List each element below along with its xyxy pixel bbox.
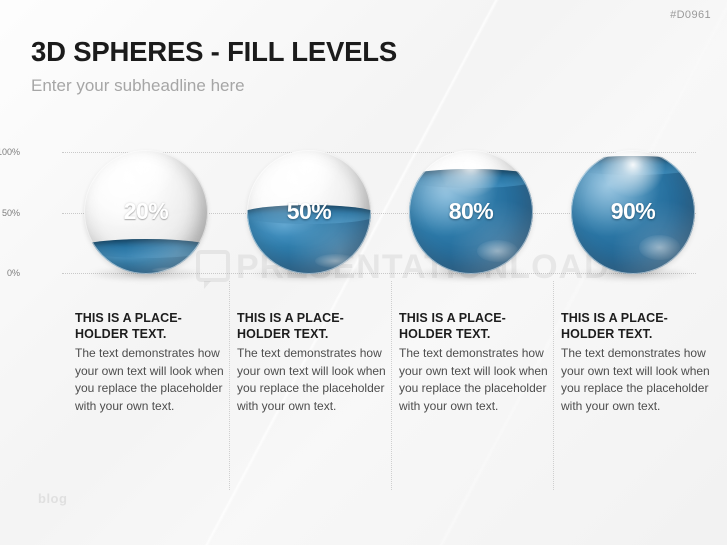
caption-heading-2[interactable]: THIS IS A PLACE-HOLDER TEXT. [237, 310, 387, 342]
sphere-3[interactable]: 80% [409, 150, 533, 274]
caption-heading-1[interactable]: THIS IS A PLACE-HOLDER TEXT. [75, 310, 225, 342]
caption-column-3[interactable]: THIS IS A PLACE-HOLDER TEXT. The text de… [399, 310, 549, 415]
caption-column-1[interactable]: THIS IS A PLACE-HOLDER TEXT. The text de… [75, 310, 225, 415]
page-title[interactable]: 3D SPHERES - FILL LEVELS [31, 36, 397, 68]
axis-tick-label-50: 50% [0, 208, 20, 218]
sphere-2[interactable]: 50% [247, 150, 371, 274]
sphere-3-fill [409, 178, 533, 274]
sphere-3-body [409, 150, 533, 274]
column-divider-1 [229, 281, 230, 490]
sphere-1[interactable]: 20% [84, 150, 208, 274]
caption-body-1[interactable]: The text demonstrates how your own text … [75, 345, 225, 415]
axis-tick-label-100: 100% [0, 147, 20, 157]
sphere-1-body [84, 150, 208, 274]
slide-id-code: #D0961 [670, 9, 711, 21]
sphere-2-body [247, 150, 371, 274]
sphere-4-fill [571, 165, 695, 274]
caption-body-3[interactable]: The text demonstrates how your own text … [399, 345, 549, 415]
slide-canvas: #D0961 3D SPHERES - FILL LEVELS Enter yo… [0, 0, 727, 545]
page-subtitle[interactable]: Enter your subheadline here [31, 76, 245, 96]
caption-body-4[interactable]: The text demonstrates how your own text … [561, 345, 711, 415]
sphere-4[interactable]: 90% [571, 150, 695, 274]
column-divider-3 [553, 281, 554, 490]
column-divider-2 [391, 281, 392, 490]
sphere-4-body [571, 150, 695, 274]
sphere-2-fill [247, 214, 371, 274]
watermark-blog: blog [38, 491, 67, 506]
caption-column-4[interactable]: THIS IS A PLACE-HOLDER TEXT. The text de… [561, 310, 711, 415]
caption-body-2[interactable]: The text demonstrates how your own text … [237, 345, 387, 415]
axis-tick-label-0: 0% [0, 268, 20, 278]
caption-heading-4[interactable]: THIS IS A PLACE-HOLDER TEXT. [561, 310, 711, 342]
sphere-1-fill [84, 248, 208, 274]
caption-column-2[interactable]: THIS IS A PLACE-HOLDER TEXT. The text de… [237, 310, 387, 415]
caption-heading-3[interactable]: THIS IS A PLACE-HOLDER TEXT. [399, 310, 549, 342]
